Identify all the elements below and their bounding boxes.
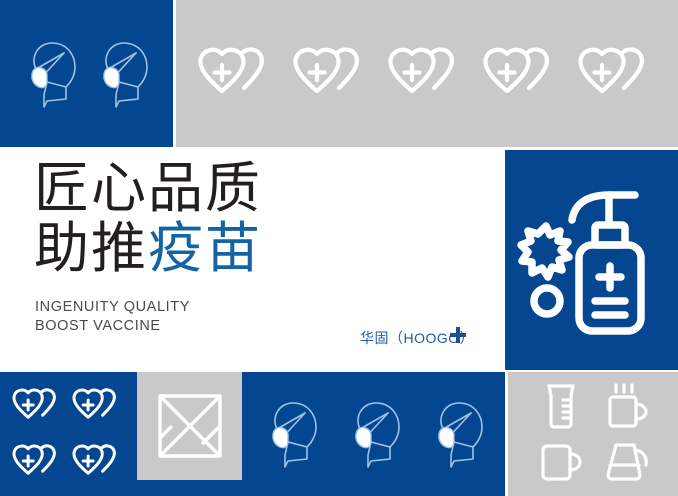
double-heart-plus-icon xyxy=(576,45,658,103)
double-heart-plus-icon xyxy=(386,45,468,103)
hand-sanitizer-bottle-icon xyxy=(517,173,667,348)
virus-germ-icon xyxy=(521,226,569,277)
headline-line-2-blue: 疫苗 xyxy=(148,217,262,279)
sanitizer-blue-panel xyxy=(505,150,678,370)
headline-line-1: 匠心品质 xyxy=(34,157,262,219)
top-left-blue-panel xyxy=(0,0,173,147)
subtitle: INGENUITY QUALITY BOOST VACCINE xyxy=(35,298,190,336)
image-placeholder-icon xyxy=(157,393,223,459)
double-heart-plus-icon xyxy=(11,442,65,482)
subtitle-line-1: INGENUITY QUALITY xyxy=(35,298,190,317)
mug-icon xyxy=(539,441,583,483)
steaming-cup-icon xyxy=(604,382,648,430)
top-right-gray-panel xyxy=(176,0,678,147)
bottom-right-gray-panel xyxy=(508,372,678,496)
masked-face-icon xyxy=(92,35,154,113)
page-title: 匠心品质 助推疫苗 xyxy=(34,158,262,278)
image-placeholder-tile xyxy=(137,372,242,480)
bottom-hearts-grid xyxy=(8,378,128,490)
subtitle-line-2: BOOST VACCINE xyxy=(35,317,190,336)
headline-card: 匠心品质 助推疫苗 INGENUITY QUALITY BOOST VACCIN… xyxy=(0,150,502,358)
double-heart-plus-icon xyxy=(291,45,373,103)
bottom-masks-row xyxy=(250,378,500,490)
double-heart-plus-icon xyxy=(196,45,278,103)
carafe-icon xyxy=(602,441,650,483)
masked-face-icon xyxy=(344,395,406,473)
headline-line-2-dark: 助推 xyxy=(34,217,148,279)
measuring-beaker-icon xyxy=(541,382,581,430)
double-heart-plus-icon xyxy=(71,386,125,426)
plus-icon xyxy=(449,326,467,344)
masked-face-icon xyxy=(261,395,323,473)
double-heart-plus-icon xyxy=(11,386,65,426)
double-heart-plus-icon xyxy=(71,442,125,482)
poster-canvas: 匠心品质 助推疫苗 INGENUITY QUALITY BOOST VACCIN… xyxy=(0,0,678,496)
double-heart-plus-icon xyxy=(481,45,563,103)
headline-line-2: 助推疫苗 xyxy=(34,218,262,278)
masked-face-icon xyxy=(20,35,82,113)
dot-icon xyxy=(534,288,560,314)
masked-face-icon xyxy=(427,395,489,473)
